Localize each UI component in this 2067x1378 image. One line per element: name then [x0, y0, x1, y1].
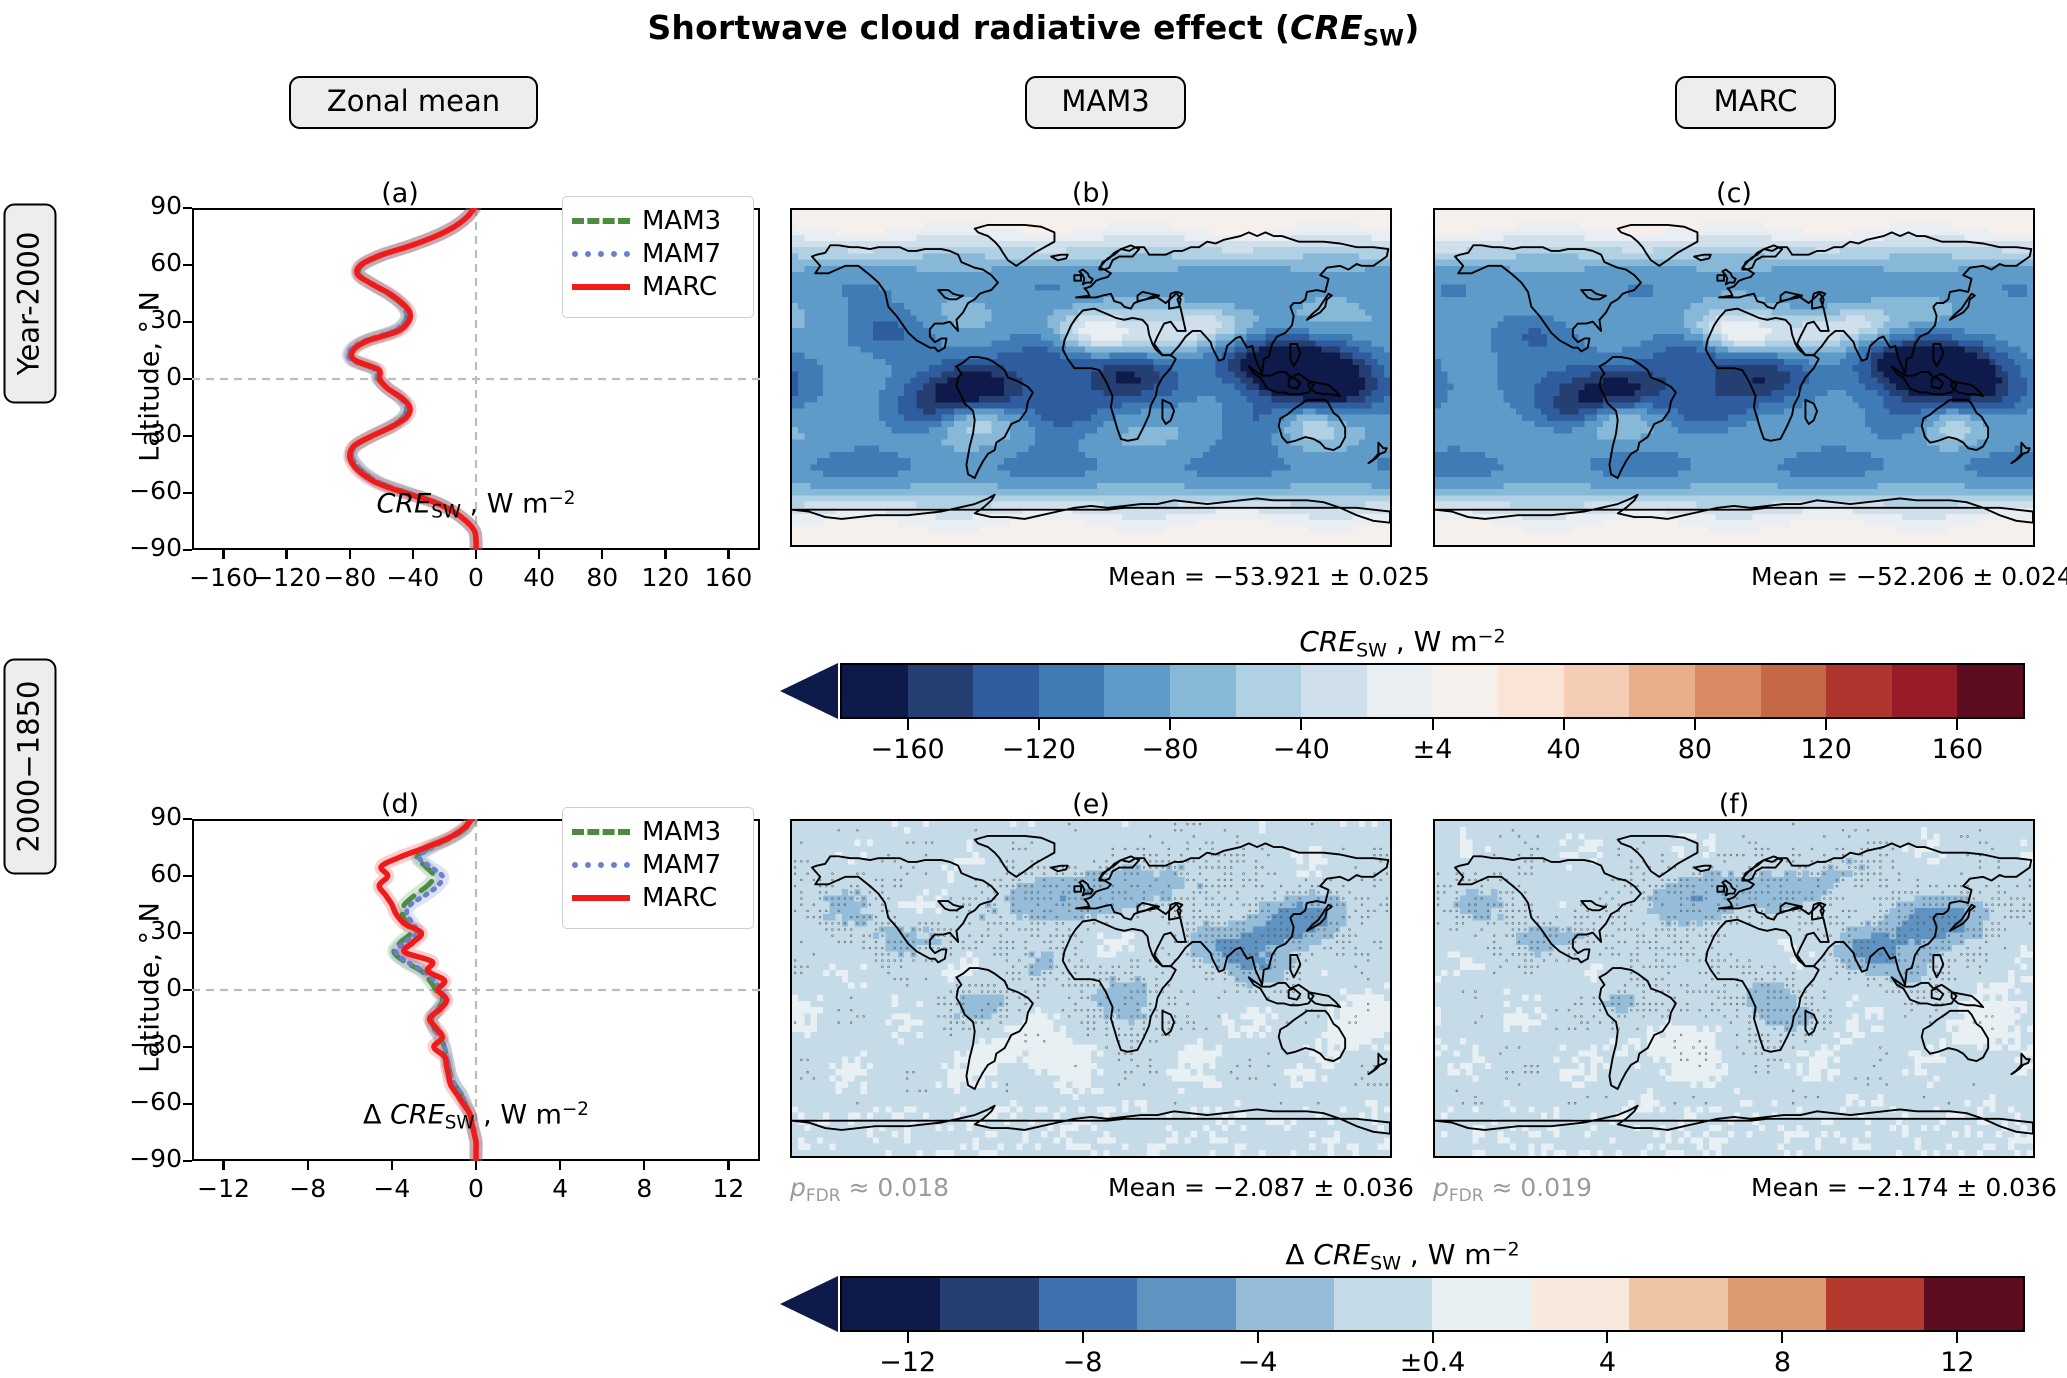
colorbar-bin	[1564, 665, 1630, 717]
legend-swatch-mam3	[572, 218, 630, 224]
y-tick-mark	[183, 492, 192, 494]
y-tick-mark	[183, 321, 192, 323]
panel-d-xlabel-subscript: SW	[445, 1113, 475, 1134]
colorbar-1-title-variable: CRE	[1299, 625, 1356, 658]
colorbar-bin	[908, 665, 974, 717]
colorbar-bin	[1301, 665, 1367, 717]
colorbar-bin	[1957, 665, 2023, 717]
colorbar-bin	[842, 665, 908, 717]
y-tick-mark	[183, 1160, 192, 1162]
panel-f-mean-annotation: Mean = −2.174 ± 0.036	[1751, 1173, 2057, 1202]
figure-title-variable: CRE	[1290, 8, 1363, 47]
column-label-mam3: MAM3	[1025, 76, 1186, 129]
y-tick-mark	[183, 378, 192, 380]
colorbar-bin	[1728, 1278, 1826, 1330]
panel-d-xlabel-units: , W m	[475, 1099, 562, 1130]
x-tick-mark	[285, 550, 287, 559]
figure-title-tail: )	[1404, 8, 1419, 47]
colorbar-tick-mark	[1432, 719, 1434, 730]
x-tick-mark	[475, 550, 477, 559]
colorbar-tick-mark	[1694, 719, 1696, 730]
colorbar-bin	[842, 1278, 940, 1330]
colorbar-tick-mark	[1300, 719, 1302, 730]
colorbar-tick-mark	[1257, 1332, 1259, 1343]
y-tick-label: 90	[126, 802, 182, 831]
x-tick-mark	[601, 550, 603, 559]
panel-e-map	[790, 819, 1392, 1158]
legend-label-marc: MARC	[642, 274, 717, 300]
y-tick-mark	[183, 435, 192, 437]
colorbar-tick-mark	[1781, 1332, 1783, 1343]
legend-swatch-mam7	[572, 251, 630, 257]
panel-b-mean-annotation: Mean = −53.921 ± 0.025	[1108, 562, 1430, 591]
colorbar-bin	[1826, 665, 1892, 717]
colorbar-tick-mark	[1606, 1332, 1608, 1343]
colorbar-2-title-units: , W m	[1401, 1238, 1492, 1271]
panel-e-pfdr-subscript: FDR	[806, 1186, 841, 1206]
colorbar-1-title: CRESW , W m−2	[780, 625, 2025, 661]
colorbar-2-title: Δ CRESW , W m−2	[780, 1238, 2025, 1274]
row-label-2000-1850-text: 2000−1850	[12, 681, 46, 853]
colorbar-bin	[1104, 665, 1170, 717]
colorbar-2: −12−8−4±0.44812	[780, 1276, 2025, 1371]
x-tick-mark	[643, 1161, 645, 1170]
colorbar-bin	[1892, 665, 1958, 717]
colorbar-tick-label: −8	[993, 1347, 1173, 1378]
colorbar-bin	[1170, 665, 1236, 717]
colorbar-tick-mark	[1956, 1332, 1958, 1343]
x-tick-mark	[727, 1161, 729, 1170]
x-tick-mark	[538, 550, 540, 559]
panel-a-xlabel-exponent: −2	[548, 488, 575, 509]
colorbar-tick-label: 160	[1867, 734, 2047, 765]
panel-f-map-canvas	[1435, 821, 2033, 1156]
row-label-year-2000: Year-2000	[4, 204, 57, 404]
colorbar-tick-mark	[907, 1332, 909, 1343]
y-tick-mark	[183, 989, 192, 991]
legend-label-mam3: MAM3	[642, 208, 721, 234]
colorbar-tick-mark	[1432, 1332, 1434, 1343]
colorbar-bin	[1432, 665, 1498, 717]
colorbar-bin	[940, 1278, 1038, 1330]
y-tick-mark	[183, 264, 192, 266]
x-tick-mark	[307, 1161, 309, 1170]
panel-a-legend: MAM3 MAM7 MARC	[562, 196, 754, 318]
legend-item-mam7: MAM7	[572, 237, 741, 270]
panel-f-pfdr-annotation: pFDR ≈ 0.019	[1433, 1173, 1592, 1206]
colorbar-bin	[1137, 1278, 1235, 1330]
colorbar-tick-mark	[1082, 1332, 1084, 1343]
panel-d-legend: MAM3 MAM7 MARC	[562, 807, 754, 929]
column-label-mam3-text: MAM3	[1061, 84, 1149, 118]
x-tick-mark	[559, 1161, 561, 1170]
x-tick-mark	[391, 1161, 393, 1170]
legend-item-marc: MARC	[572, 881, 741, 914]
colorbar-tick-label: −4	[1168, 1347, 1348, 1378]
legend-swatch-mam7	[572, 862, 630, 868]
colorbar-gradient	[840, 1276, 2025, 1332]
y-tick-mark	[183, 875, 192, 877]
panel-letter-f: (f)	[1433, 789, 2035, 820]
colorbar-bin	[1498, 665, 1564, 717]
colorbar-extend-arrow	[780, 663, 838, 719]
panel-b-map-canvas	[792, 210, 1390, 545]
legend-item-marc: MARC	[572, 270, 741, 303]
colorbar-tick-mark	[1825, 719, 1827, 730]
panel-e-map-canvas	[792, 821, 1390, 1156]
figure-title-text: Shortwave cloud radiative effect (	[647, 8, 1290, 47]
row-label-2000-1850: 2000−1850	[4, 659, 57, 875]
panel-c-map-canvas	[1435, 210, 2033, 545]
colorbar-tick-mark	[1038, 719, 1040, 730]
panel-letter-c: (c)	[1433, 178, 2035, 209]
colorbar-2-title-subscript: SW	[1370, 1252, 1401, 1274]
colorbar-bin	[1334, 1278, 1432, 1330]
legend-label-mam3: MAM3	[642, 819, 721, 845]
column-label-zonal-mean: Zonal mean	[289, 76, 538, 129]
panel-letter-e: (e)	[790, 789, 1392, 820]
y-tick-mark	[183, 549, 192, 551]
colorbar-bin	[1629, 1278, 1727, 1330]
colorbar-tick-mark	[1169, 719, 1171, 730]
figure-title-variable-subscript: SW	[1363, 25, 1404, 51]
panel-f-pfdr-value: ≈ 0.019	[1484, 1173, 1592, 1202]
panel-a-xlabel-units: , W m	[461, 488, 548, 519]
legend-item-mam3: MAM3	[572, 815, 741, 848]
column-label-zonal-mean-text: Zonal mean	[327, 84, 500, 118]
legend-swatch-marc	[572, 895, 630, 901]
legend-label-marc: MARC	[642, 885, 717, 911]
legend-label-mam7: MAM7	[642, 852, 721, 878]
panel-f-map	[1433, 819, 2035, 1158]
panel-e-pfdr-value: ≈ 0.018	[841, 1173, 949, 1202]
panel-b-map	[790, 208, 1392, 547]
colorbar-bin	[1039, 1278, 1137, 1330]
colorbar-tick-label: 4	[1517, 1347, 1697, 1378]
legend-item-mam3: MAM3	[572, 204, 741, 237]
colorbar-bin	[1531, 1278, 1629, 1330]
panel-letter-b: (b)	[790, 178, 1392, 209]
column-label-marc: MARC	[1675, 76, 1836, 129]
colorbar-bin	[1826, 1278, 1924, 1330]
panel-d-xlabel: Δ CRESW , W m−2	[192, 1099, 760, 1134]
colorbar-bin	[1695, 665, 1761, 717]
y-tick-mark	[183, 818, 192, 820]
colorbar-tick-label: −12	[818, 1347, 998, 1378]
colorbar-tick-mark	[1956, 719, 1958, 730]
colorbar-bin	[1236, 665, 1302, 717]
legend-swatch-mam3	[572, 829, 630, 835]
x-tick-mark	[412, 550, 414, 559]
panel-f-pfdr-symbol: p	[1433, 1173, 1449, 1202]
x-tick-mark	[475, 1161, 477, 1170]
panel-d-xlabel-exponent: −2	[562, 1099, 589, 1120]
y-tick-label: −90	[126, 533, 182, 562]
panel-c-map	[1433, 208, 2035, 547]
y-tick-mark	[183, 1046, 192, 1048]
colorbar-tick-label: ±0.4	[1343, 1347, 1523, 1378]
y-tick-mark	[183, 1103, 192, 1105]
colorbar-2-title-delta: Δ	[1285, 1238, 1313, 1271]
colorbar-tick-label: 12	[1867, 1347, 2047, 1378]
x-tick-mark	[349, 550, 351, 559]
colorbar-1: −160−120−80−40±44080120160	[780, 663, 2025, 758]
panel-letter-d: (d)	[190, 789, 610, 820]
x-tick-mark	[222, 1161, 224, 1170]
panel-d-xlabel-variable: CRE	[390, 1099, 445, 1130]
colorbar-bin	[1236, 1278, 1334, 1330]
colorbar-bin	[1761, 665, 1827, 717]
colorbar-tick-mark	[1563, 719, 1565, 730]
x-tick-label: 160	[668, 563, 788, 592]
x-tick-mark	[727, 550, 729, 559]
colorbar-bin	[1432, 1278, 1530, 1330]
y-tick-label: −90	[126, 1144, 182, 1173]
y-tick-mark	[183, 932, 192, 934]
colorbar-1-title-units: , W m	[1387, 625, 1478, 658]
row-label-year-2000-text: Year-2000	[12, 232, 46, 376]
panel-c-mean-annotation: Mean = −52.206 ± 0.024	[1751, 562, 2067, 591]
x-tick-mark	[664, 550, 666, 559]
colorbar-bin	[1924, 1278, 2022, 1330]
legend-swatch-marc	[572, 284, 630, 290]
colorbar-2-title-exponent: −2	[1492, 1238, 1520, 1260]
panel-d-ylabel: Latitude, ° N	[135, 868, 166, 1108]
colorbar-tick-mark	[907, 719, 909, 730]
panel-a-xlabel: CRESW , W m−2	[192, 488, 760, 523]
colorbar-1-title-exponent: −2	[1478, 625, 1506, 647]
colorbar-tick-label: 8	[1692, 1347, 1872, 1378]
panel-e-pfdr-annotation: pFDR ≈ 0.018	[790, 1173, 949, 1206]
x-tick-label: 12	[668, 1174, 788, 1203]
panel-e-pfdr-symbol: p	[790, 1173, 806, 1202]
panel-e-mean-annotation: Mean = −2.087 ± 0.036	[1108, 1173, 1414, 1202]
y-tick-label: 90	[126, 191, 182, 220]
panel-a-xlabel-variable: CRE	[377, 488, 432, 519]
colorbar-extend-arrow	[780, 1276, 838, 1332]
legend-label-mam7: MAM7	[642, 241, 721, 267]
colorbar-bin	[1367, 665, 1433, 717]
x-tick-mark	[222, 550, 224, 559]
panel-a-xlabel-subscript: SW	[431, 502, 461, 523]
figure-title: Shortwave cloud radiative effect (CRESW)	[0, 8, 2067, 51]
colorbar-bin	[973, 665, 1039, 717]
colorbar-1-title-subscript: SW	[1356, 639, 1387, 661]
colorbar-bin	[1039, 665, 1105, 717]
colorbar-gradient	[840, 663, 2025, 719]
colorbar-bin	[1629, 665, 1695, 717]
colorbar-2-title-variable: CRE	[1313, 1238, 1370, 1271]
panel-letter-a: (a)	[190, 178, 610, 209]
column-label-marc-text: MARC	[1714, 84, 1798, 118]
panel-d-xlabel-delta: Δ	[363, 1099, 390, 1130]
legend-item-mam7: MAM7	[572, 848, 741, 881]
panel-a-ylabel: Latitude, ° N	[135, 257, 166, 497]
panel-f-pfdr-subscript: FDR	[1449, 1186, 1484, 1206]
y-tick-mark	[183, 207, 192, 209]
